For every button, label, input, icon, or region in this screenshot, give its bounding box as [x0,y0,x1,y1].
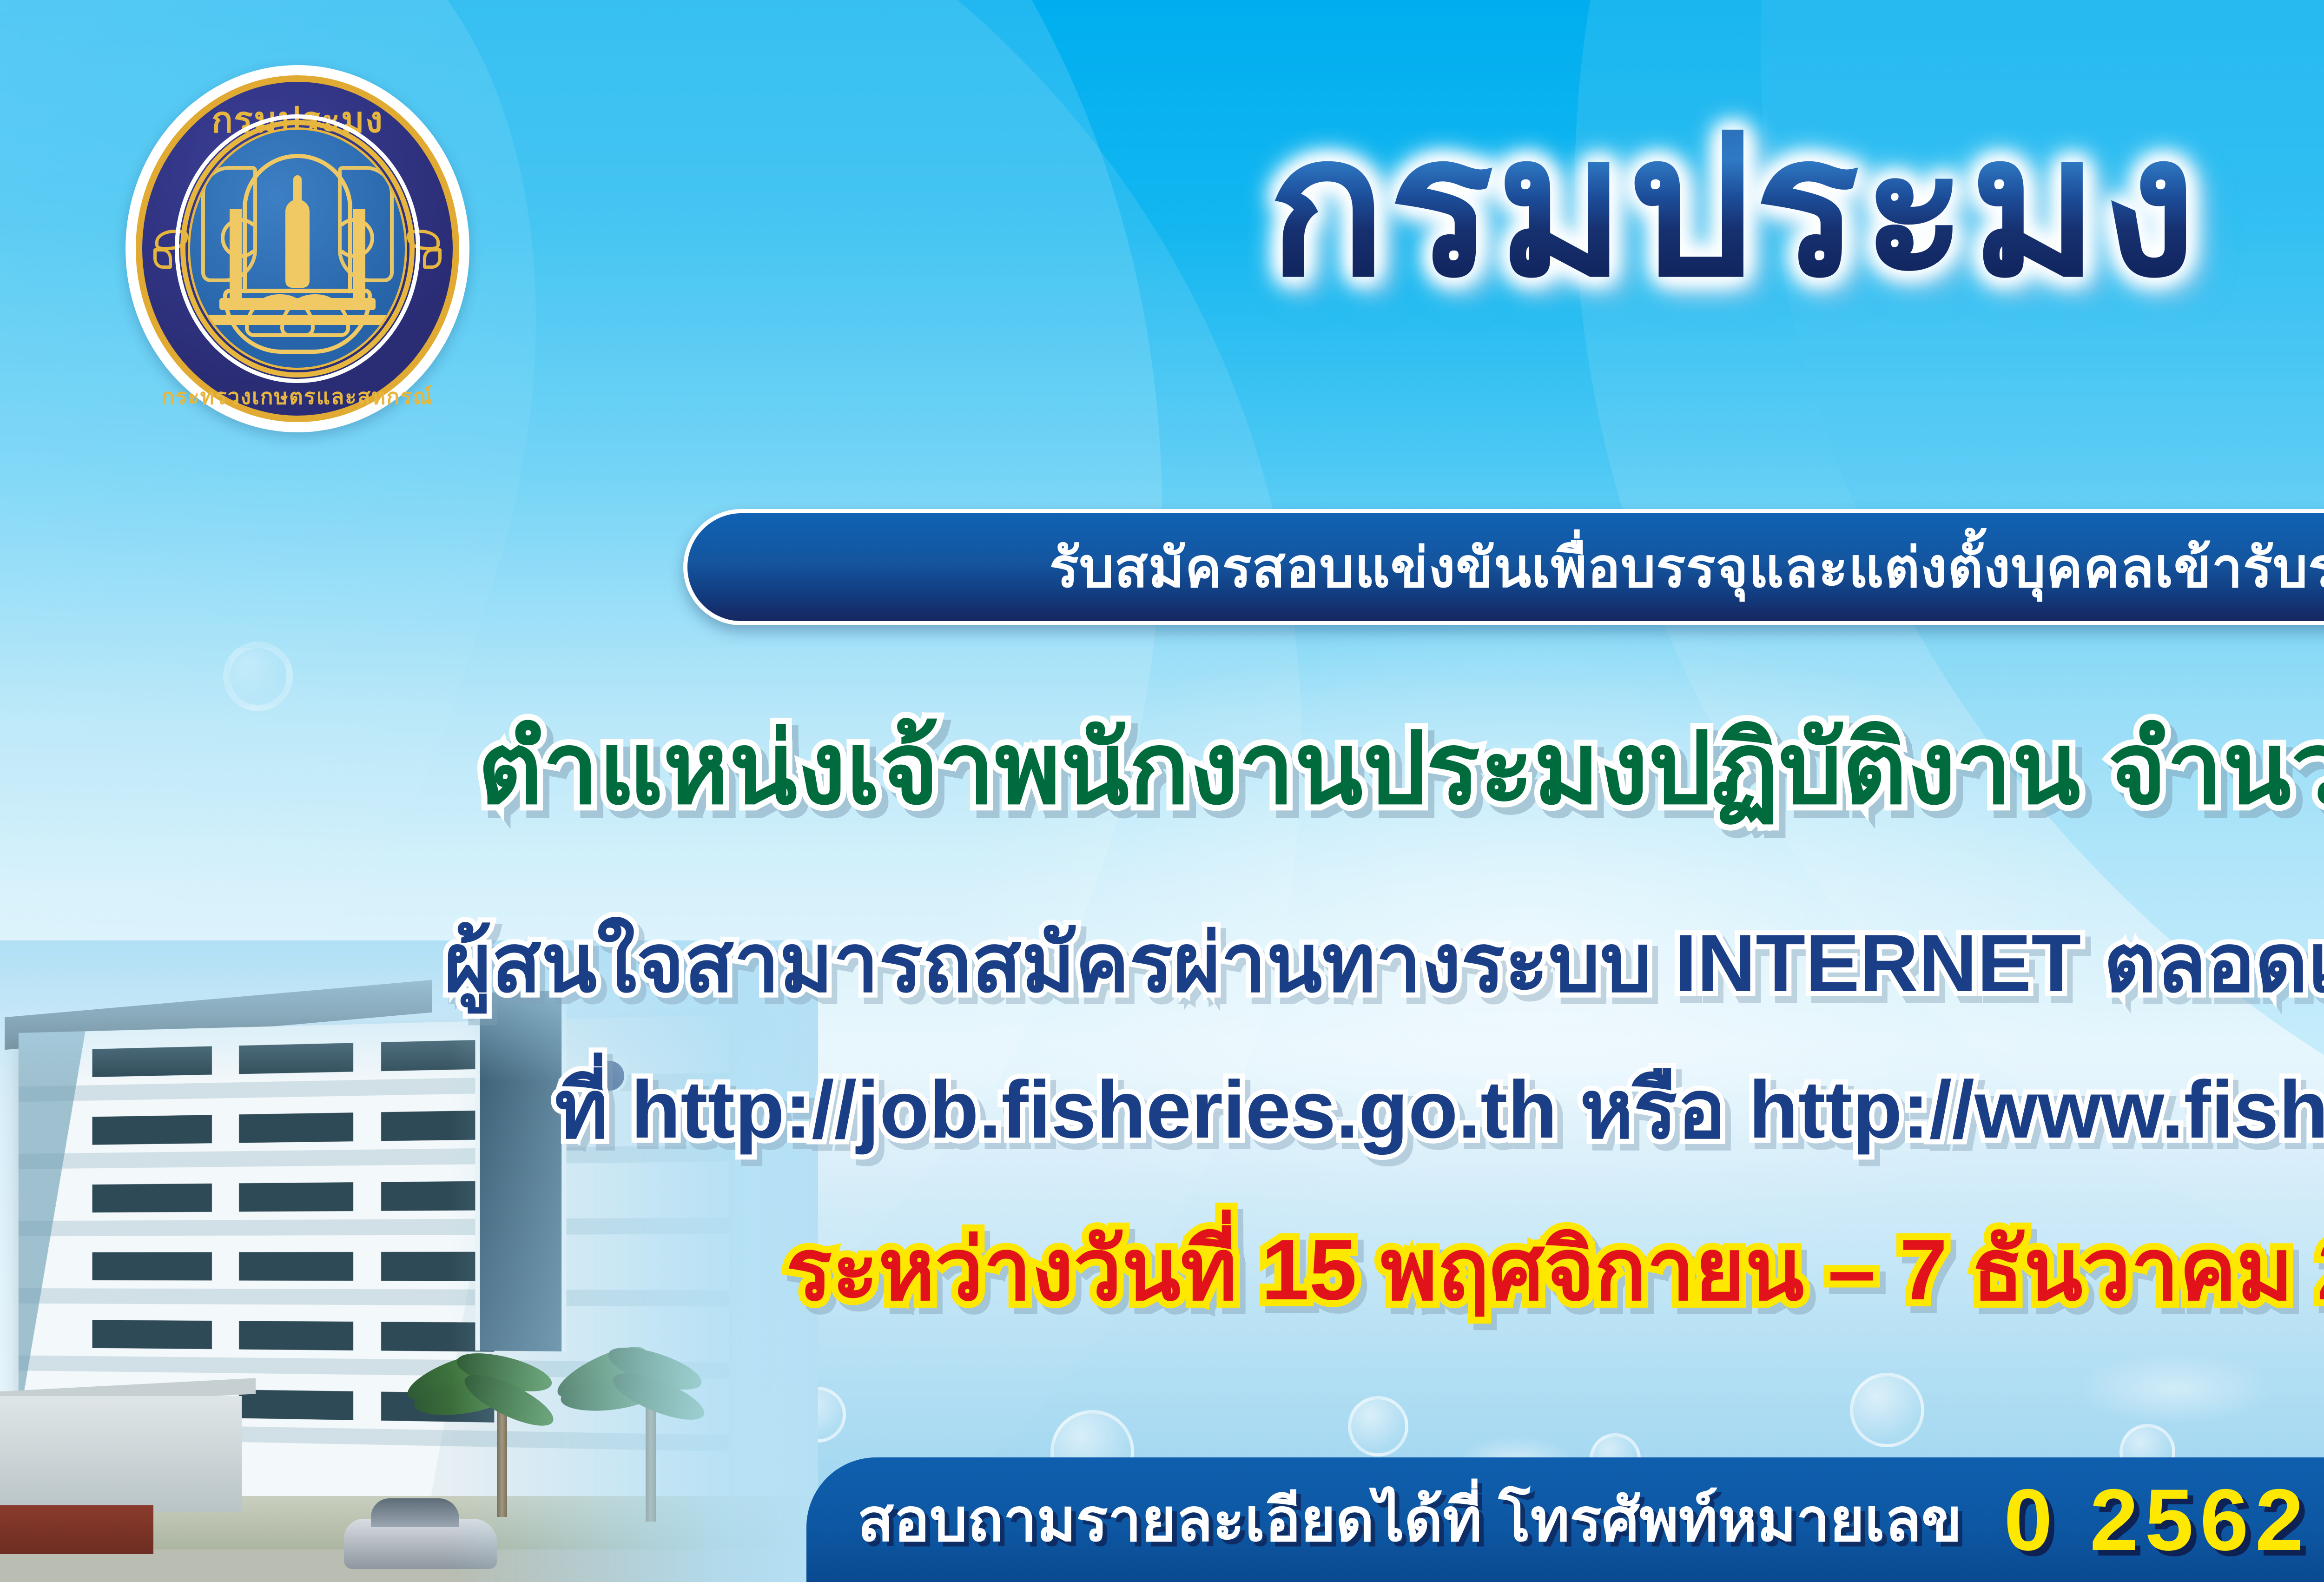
emblem-deity-figure-icon [285,199,310,288]
page-title: กรมประมง [688,109,2324,304]
position-line: ตำแหน่งเจ้าพนักงานประมงปฏิบัติงาน จำนวน … [0,718,2324,818]
footer-contact-label: สอบถามรายละเอียดได้ที่ โทรศัพท์หมายเลข [858,1473,1962,1567]
department-of-fisheries-emblem: กรมประมง กระทรวงเกษตรและสหกรณ์ [125,65,469,432]
emblem-bottom-text: กระทรวงเกษตรและสหกรณ์ [125,380,469,414]
recruitment-banner: รับสมัครสอบแข่งขันเพื่อบรรจุและแต่งตั้งบ… [683,509,2324,625]
parked-car [344,1519,497,1569]
emblem-kirtimukha-icon [223,289,372,354]
recruitment-banner-label: รับสมัครสอบแข่งขันเพื่อบรรจุและแต่งตั้งบ… [1049,523,2324,611]
palm-tree-icon [581,1354,720,1522]
bubble-decor [223,642,293,711]
date-range-line: ระหว่างวันที่ 15 พฤศจิกายน – 7 ธันวาคม 2… [0,1227,2324,1313]
fisheries-recruitment-poster: กรมประมง กระทรวงเกษตรและสหกรณ์ กรมประมง [0,0,2324,1582]
internet-line: ผู้สนใจสามารถสมัครผ่านทางระบบ INTERNET ต… [0,923,2324,1004]
footer-phone-number[interactable]: 0 2562 0536 [2004,1469,2324,1570]
footer-contact-bar: สอบถามรายละเอียดได้ที่ โทรศัพท์หมายเลข 0… [806,1457,2324,1582]
emblem-inner-medallion [188,127,407,370]
url-line[interactable]: ที่ http://job.fisheries.go.th หรือ http… [0,1069,2324,1151]
palm-tree-icon [432,1359,572,1517]
